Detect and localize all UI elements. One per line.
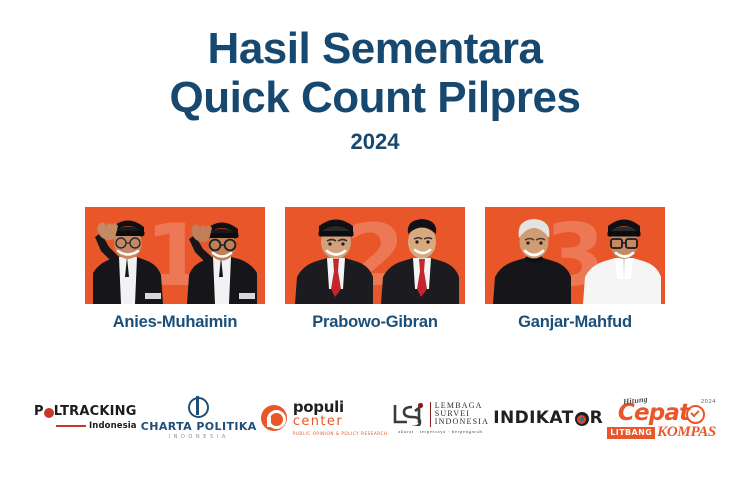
candidate-photo-3: 3 <box>485 207 665 304</box>
logo-populi-center[interactable]: populi center PUBLIC OPINION & POLICY RE… <box>261 392 388 444</box>
populi-center-line1: populi <box>293 400 388 415</box>
lsi-monogram-icon <box>392 402 426 426</box>
candidate-figures-2 <box>285 207 465 304</box>
populi-center-line2: center <box>293 415 388 429</box>
quick-count-infographic: Hasil Sementara Quick Count Pilpres 2024… <box>0 0 750 500</box>
logo-poltracking[interactable]: P LTRACKING Indonesia <box>34 392 137 444</box>
poltracking-wordmark: P LTRACKING <box>34 405 137 419</box>
charta-politika-subtitle: INDONESIA <box>169 434 229 440</box>
lsi-name-block: LEMBAGA SURVEI INDONESIA <box>430 402 489 427</box>
indikator-wordmark: INDIKAT R <box>493 408 603 428</box>
candidate-photo-1: 1 <box>85 207 265 304</box>
kompas-check-icon <box>686 405 705 424</box>
kompas-bottom-row: LITBANG KOMPAS <box>607 425 716 440</box>
candidate-list: 1 <box>85 207 665 332</box>
survey-institution-logos: P LTRACKING Indonesia CHARTA POLITIKA IN… <box>34 392 716 444</box>
populi-center-mark-icon <box>261 405 287 431</box>
title-line-2: Quick Count Pilpres <box>0 73 750 122</box>
populi-center-tagline: PUBLIC OPINION & POLICY RESEARCH <box>293 431 388 436</box>
kompas-litbang-badge: LITBANG <box>607 427 655 439</box>
title-year: 2024 <box>0 129 750 155</box>
kompas-brand-label: KOMPAS <box>657 425 716 440</box>
candidate-card-1[interactable]: 1 <box>85 207 265 332</box>
candidate-photo-2: 2 <box>285 207 465 304</box>
poltracking-subtitle: Indonesia <box>89 421 137 431</box>
poltracking-name-part1: P <box>34 405 44 419</box>
candidate-figures-3 <box>485 207 665 304</box>
poltracking-rule <box>56 425 86 428</box>
candidate-figures-1 <box>85 207 265 304</box>
logo-litbang-kompas[interactable]: Hitung 2024 Cepat LITBANG KOMPAS <box>607 392 716 444</box>
logo-lembaga-survei-indonesia[interactable]: LEMBAGA SURVEI INDONESIA akurat · terper… <box>392 392 489 444</box>
candidate-name-2: Prabowo-Gibran <box>312 313 438 332</box>
lsi-word-3: INDONESIA <box>435 418 489 426</box>
lsi-wordmark: LEMBAGA SURVEI INDONESIA <box>392 402 489 427</box>
candidate-name-1: Anies-Muhaimin <box>113 313 238 332</box>
poltracking-name-part2: LTRACKING <box>54 405 137 419</box>
charta-politika-mark-icon <box>188 397 209 418</box>
indikator-target-icon <box>575 412 589 426</box>
logo-indikator[interactable]: INDIKAT R <box>493 392 603 444</box>
candidate-card-2[interactable]: 2 <box>285 207 465 332</box>
logo-charta-politika[interactable]: CHARTA POLITIKA INDONESIA <box>141 392 257 444</box>
indikator-name-part1: INDIKAT <box>493 408 573 428</box>
candidate-name-3: Ganjar-Mahfud <box>518 313 632 332</box>
charta-politika-name: CHARTA POLITIKA <box>141 421 257 433</box>
populi-center-wordmark: populi center PUBLIC OPINION & POLICY RE… <box>293 400 388 436</box>
title-line-1: Hasil Sementara <box>0 24 750 73</box>
page-title: Hasil Sementara Quick Count Pilpres 2024 <box>0 24 750 155</box>
lsi-tagline: akurat · terpercaya · berpengaruh <box>398 429 482 434</box>
poltracking-dot-icon <box>44 408 54 418</box>
candidate-card-3[interactable]: 3 <box>485 207 665 332</box>
poltracking-subtitle-row: Indonesia <box>56 421 137 431</box>
indikator-name-part2: R <box>590 408 604 428</box>
